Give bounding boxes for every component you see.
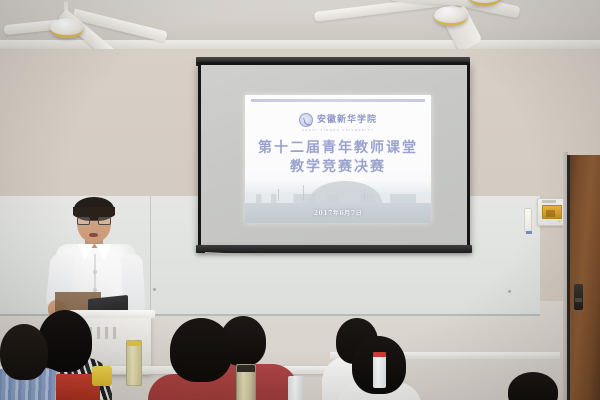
door-handle[interactable]	[574, 284, 583, 310]
whiteboard-screw	[508, 290, 511, 293]
control-panel-led-icon	[558, 220, 561, 223]
attendee-7	[498, 372, 568, 400]
red-container-cap	[92, 366, 112, 386]
water-bottle[interactable]	[126, 340, 142, 386]
photo-mast	[303, 185, 304, 201]
glasses-icon	[77, 217, 111, 225]
attendee-1	[0, 328, 64, 400]
presentation-slide: 安徽新华学院 ANHUI XINHUA UNIVERSITY 第十二届青年教师课…	[245, 95, 431, 223]
attendee-head	[508, 372, 558, 400]
control-panel-label	[542, 200, 556, 203]
clear-bottle[interactable]	[373, 352, 386, 388]
thermos-cap	[237, 365, 255, 372]
projection-screen: 安徽新华学院 ANHUI XINHUA UNIVERSITY 第十二届青年教师课…	[198, 62, 470, 248]
wall-intercom[interactable]	[524, 208, 532, 232]
control-panel-screen	[542, 205, 562, 219]
shirt-button	[93, 270, 97, 274]
thermos-cup[interactable]	[236, 364, 256, 400]
side-cup[interactable]	[288, 376, 304, 400]
slide-header-bar	[251, 99, 425, 102]
university-emblem-icon	[299, 113, 313, 127]
fan-blade	[390, 0, 481, 7]
presenter-mouth	[89, 233, 98, 237]
university-logo: 安徽新华学院	[245, 113, 431, 127]
bottle-cap	[127, 341, 141, 346]
photo-mast	[364, 189, 365, 201]
photo-skyline	[245, 194, 431, 203]
university-name-cn: 安徽新华学院	[317, 116, 377, 125]
fan-far-right-partial	[390, 0, 510, 16]
slide-title: 第十二届青年教师课堂 教学竞赛决赛	[245, 139, 431, 177]
slide-title-line2: 教学竞赛决赛	[245, 158, 431, 177]
photo-mast	[278, 189, 279, 201]
slide-date: 2017年6月7日	[245, 208, 431, 217]
fan-hub	[50, 18, 84, 38]
room-door[interactable]	[567, 155, 600, 400]
screen-surface: 安徽新华学院 ANHUI XINHUA UNIVERSITY 第十二届青年教师课…	[201, 65, 467, 245]
attendee-head	[170, 318, 232, 382]
classroom-photo: 安徽新华学院 ANHUI XINHUA UNIVERSITY 第十二届青年教师课…	[0, 0, 600, 400]
ac-control-panel[interactable]	[537, 198, 565, 226]
bottle-cap	[373, 352, 386, 357]
slide-title-line1: 第十二届青年教师课堂	[245, 139, 431, 158]
attendee-head	[0, 324, 48, 380]
screen-weight-bar	[196, 245, 472, 253]
slide-campus-photo: 2017年6月7日	[245, 181, 431, 223]
university-name-en: ANHUI XINHUA UNIVERSITY	[245, 128, 431, 132]
